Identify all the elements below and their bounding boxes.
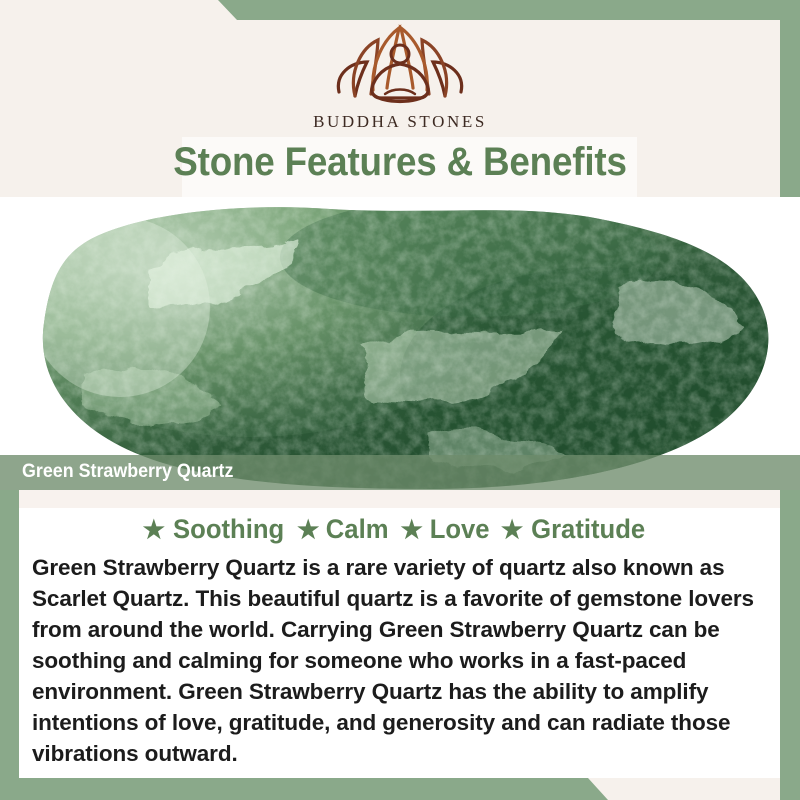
feature-label-soothing: Soothing — [169, 514, 292, 545]
content-panel: ★Soothing★Calm★Love★Gratitude Green Stra… — [19, 490, 780, 778]
decor-bottom-band — [0, 778, 800, 800]
panel-top-tint — [19, 490, 780, 508]
star-icon: ★ — [296, 516, 320, 544]
lotus-meditation-icon — [315, 18, 485, 110]
feature-item-0: ★Soothing — [142, 514, 296, 544]
star-icon: ★ — [500, 516, 524, 544]
photo-caption: Green Strawberry Quartz — [22, 461, 233, 483]
feature-label-calm: Calm — [322, 514, 397, 545]
feature-item-1: ★Calm — [296, 514, 399, 544]
brand-name: BUDDHA STONES — [0, 112, 800, 132]
star-icon: ★ — [142, 516, 166, 544]
feature-item-2: ★Love — [399, 514, 499, 544]
feature-label-gratitude: Gratitude — [528, 514, 654, 545]
stone-photo — [0, 197, 800, 490]
brand-header: BUDDHA STONES — [0, 0, 800, 142]
feature-list: ★Soothing★Calm★Love★Gratitude — [19, 514, 780, 545]
infographic-page: BUDDHA STONES Stone Features & Benefits — [0, 0, 800, 800]
description-paragraph: Green Strawberry Quartz is a rare variet… — [32, 552, 772, 769]
feature-label-love: Love — [426, 514, 498, 545]
feature-item-3: ★Gratitude — [500, 514, 657, 544]
brand-logo: BUDDHA STONES — [0, 18, 800, 132]
green-strawberry-quartz-image — [0, 197, 800, 490]
star-icon: ★ — [399, 516, 423, 544]
page-title: Stone Features & Benefits — [32, 140, 768, 185]
